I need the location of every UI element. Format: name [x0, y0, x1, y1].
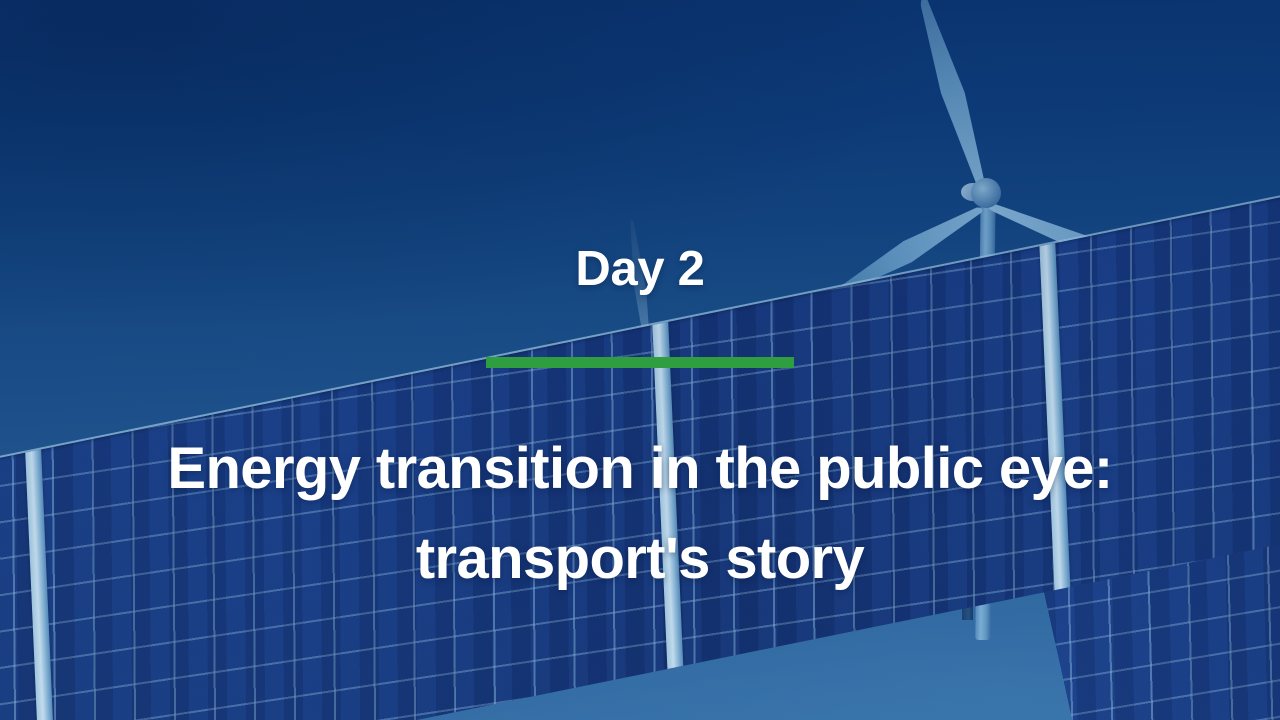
accent-divider [486, 357, 794, 368]
slide-content: Day 2 Energy transition in the public ey… [0, 0, 1280, 720]
slide-eyebrow: Day 2 [0, 243, 1280, 297]
slide-title: Energy transition in the public eye: tra… [80, 424, 1200, 604]
presentation-slide: Day 2 Energy transition in the public ey… [0, 0, 1280, 720]
slide-title-line-2: transport's story [80, 514, 1200, 604]
slide-title-line-1: Energy transition in the public eye: [167, 436, 1112, 501]
